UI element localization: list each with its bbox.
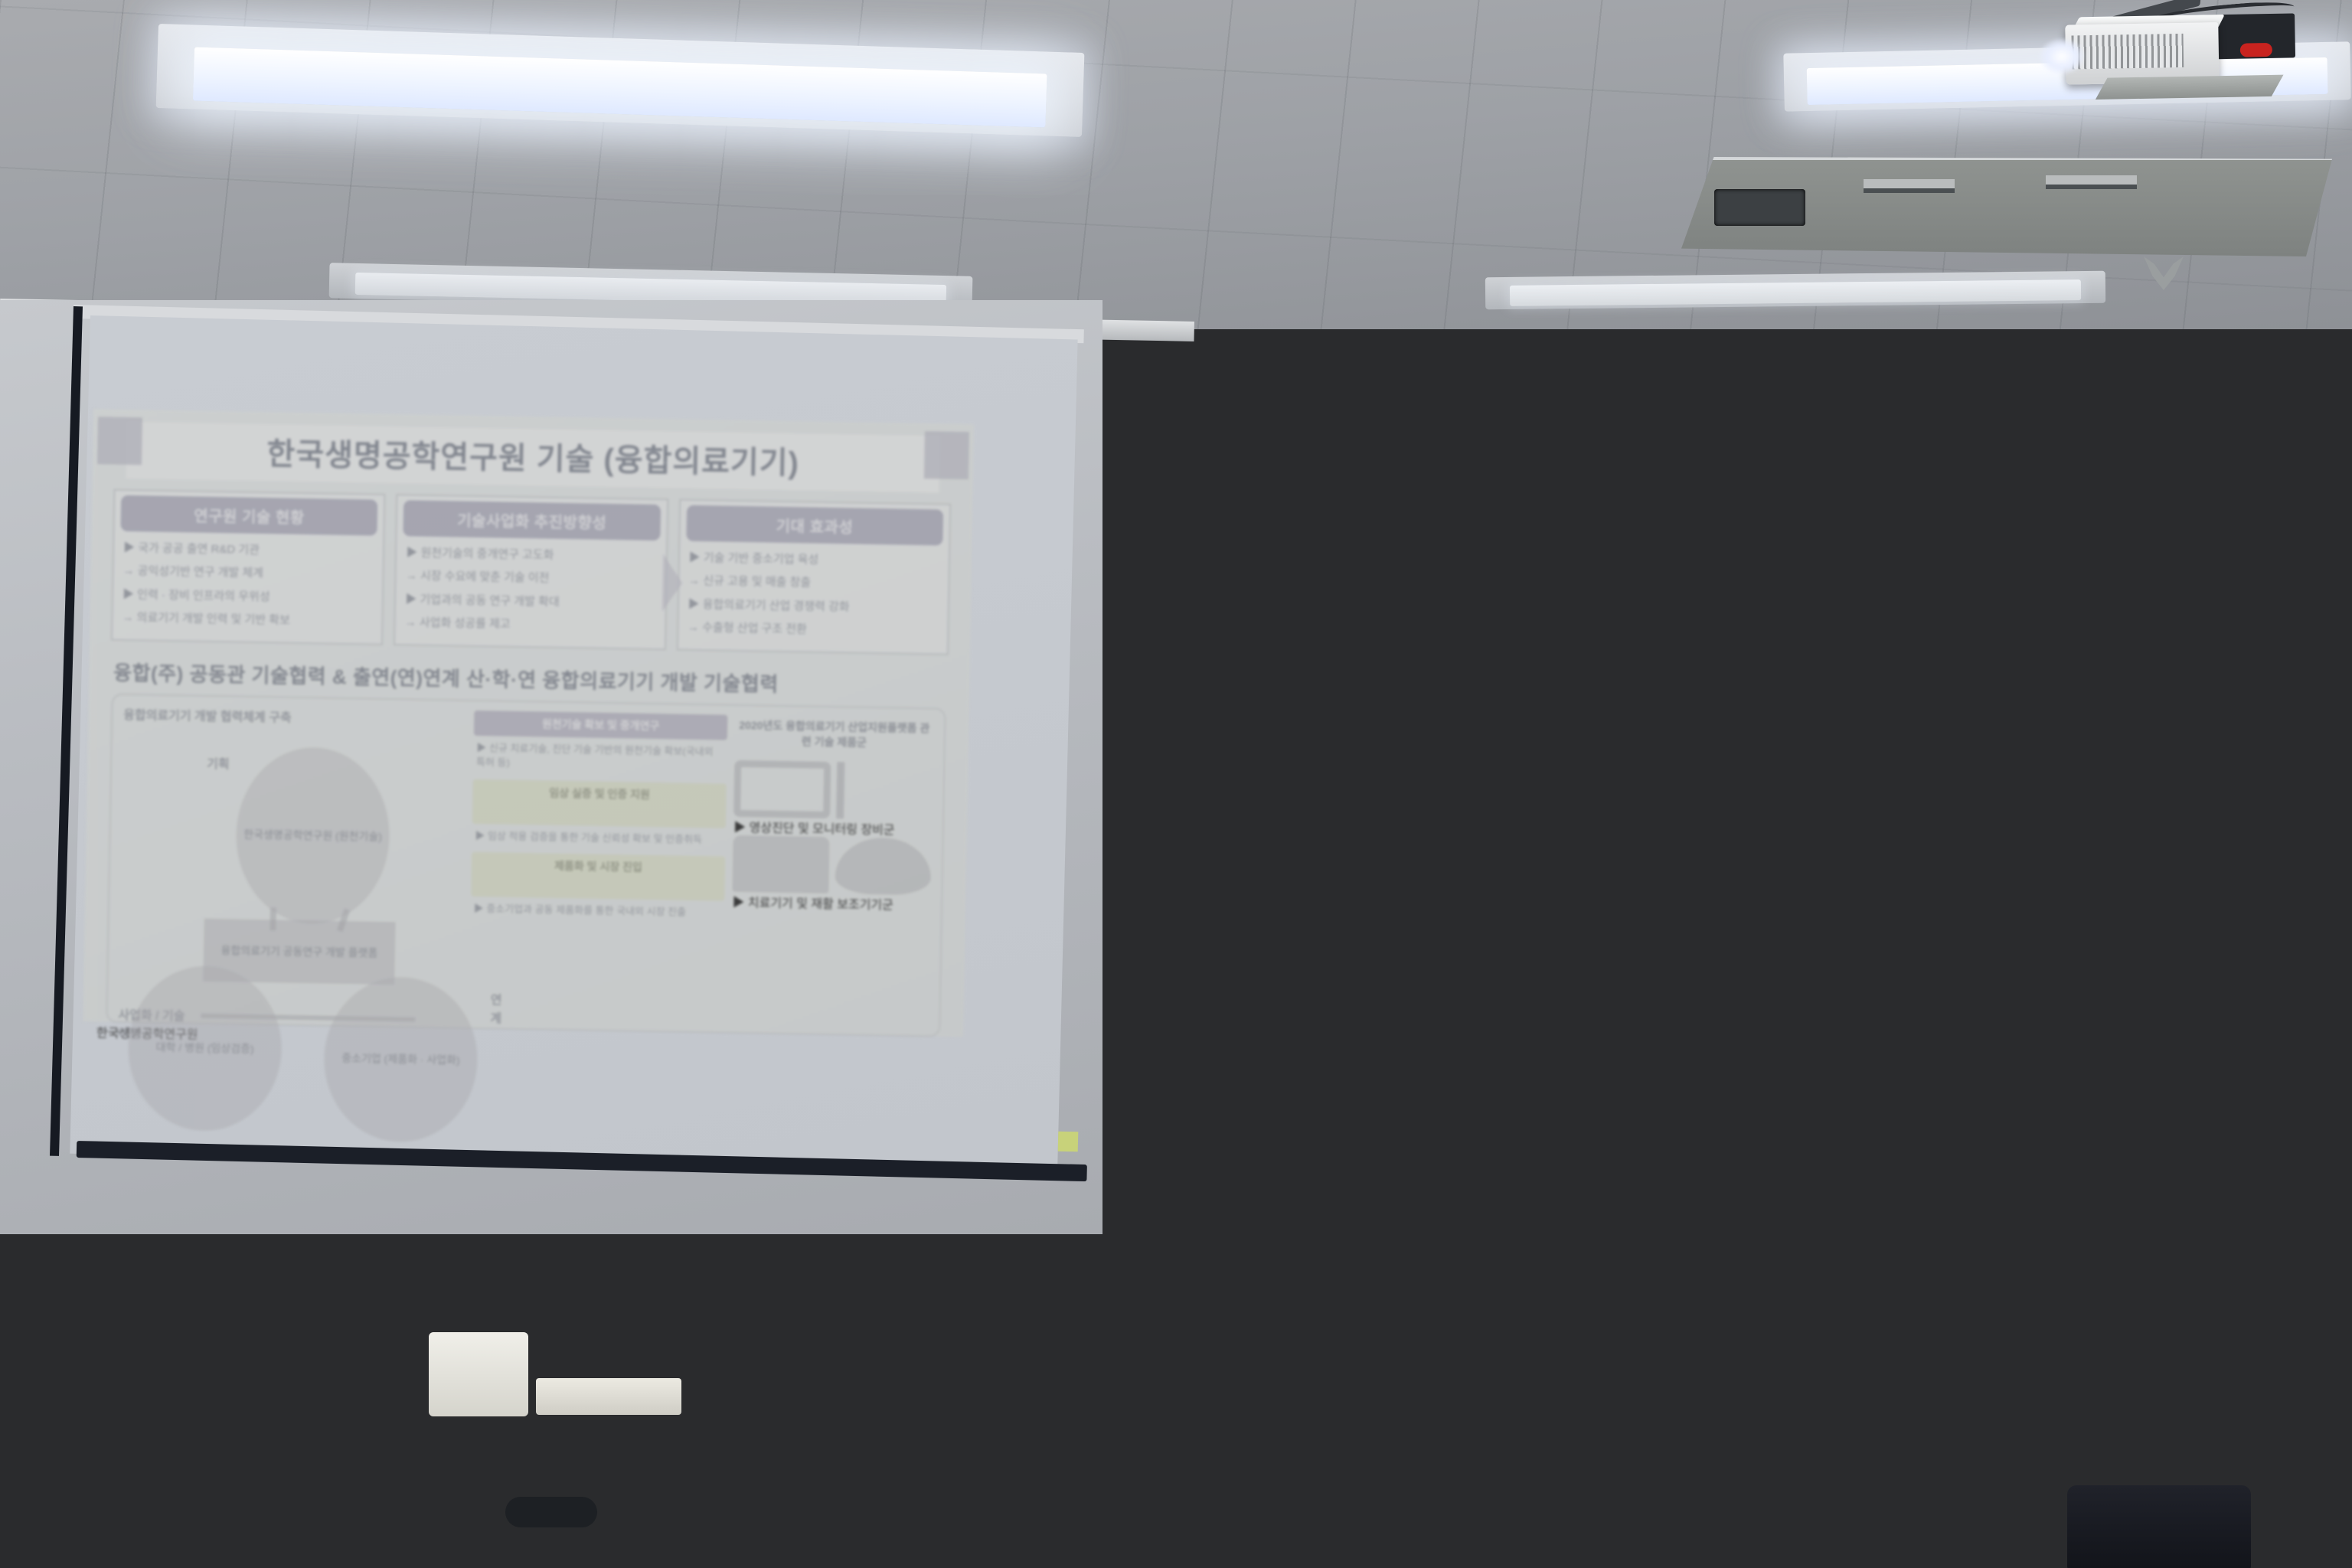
slide-device-photo-group: 2020년도 융합의료기기 산업지원플랫폼 관련 기술 제품군 ▶ 영상진단 및… bbox=[730, 715, 934, 1026]
slide-column-2: 기술사업화 추진방향성 ▶ 원천기술의 중개연구 고도화 → 시장 수요에 맞춘… bbox=[394, 494, 668, 650]
chair-back bbox=[0, 1447, 176, 1568]
hatch-vent bbox=[1714, 189, 1805, 226]
projection-screen: 한국생명공학연구원 기술 (융합의료기기) 연구원 기술 현황 ▶ 국가 공공 … bbox=[70, 315, 1077, 1178]
slide-title: 한국생명공학연구원 기술 (융합의료기기) bbox=[126, 422, 940, 493]
bullet: → 공익성기반 연구 개발 체계 bbox=[122, 562, 374, 584]
diagram-node-bottom-right: 중소기업 (제품화 · 사업화) bbox=[323, 976, 479, 1143]
lecture-hall-photo: 한국생명공학연구원 기술 (융합의료기기) 연구원 기술 현황 ▶ 국가 공공 … bbox=[0, 0, 2352, 1568]
mid-right-fluorescent-fixture bbox=[1485, 271, 2105, 309]
ceiling-access-hatch bbox=[1681, 157, 2332, 256]
slide-callout-1-note: ▶ 신규 치료기술, 진단 기술 기반의 원천기술 확보(국내외 특허 등) bbox=[473, 739, 727, 781]
slide-column-1-header: 연구원 기술 현황 bbox=[120, 495, 377, 536]
scanner-device-photo bbox=[733, 835, 830, 893]
slide-title-tab-right bbox=[924, 431, 969, 479]
tissue-box bbox=[429, 1332, 528, 1416]
slide-column-3-bullets: ▶ 기술 기반 중소기업 육성 → 신규 고용 및 매출 창출 ▶ 융합의료기기… bbox=[678, 549, 949, 641]
diagram-side-label-2: 연계 bbox=[490, 989, 502, 1026]
bullet: ▶ 국가 공공 출연 R&D 기관 bbox=[123, 539, 374, 561]
bullet: ▶ 원천기술의 중개연구 고도화 bbox=[406, 544, 657, 566]
slide-column-2-header: 기술사업화 추진방향성 bbox=[403, 500, 661, 541]
backpack bbox=[2067, 1485, 2251, 1568]
projector-base-plate bbox=[2096, 75, 2284, 100]
slide-callout-2-title: 임상 실증 및 인증 지원 bbox=[472, 779, 727, 828]
paper-sheet bbox=[536, 1378, 681, 1415]
slide-arrow-icon bbox=[661, 554, 682, 612]
slide-callout-3-title: 제품화 및 시장 진입 bbox=[471, 852, 726, 901]
bullet: → 사업화 성공률 제고 bbox=[405, 613, 656, 635]
hatch-bracket bbox=[1864, 179, 1955, 193]
slide-column-3-header: 기대 효과성 bbox=[686, 505, 943, 546]
slide-column-2-bullets: ▶ 원천기술의 중개연구 고도화 → 시장 수요에 맞춘 기술 이전 ▶ 기업과… bbox=[396, 544, 666, 635]
ultrasound-probe-device-photo bbox=[835, 837, 932, 895]
chair-armrest bbox=[505, 1497, 597, 1527]
slide-photo-group-header: 2020년도 융합의료기기 산업지원플랫폼 관련 기술 제품군 bbox=[735, 718, 933, 752]
slide-photo-grid-bottom bbox=[733, 835, 932, 896]
slide-column-1-bullets: ▶ 국가 공공 출연 R&D 기관 → 공익성기반 연구 개발 체계 ▶ 인력 … bbox=[113, 539, 383, 631]
monitor-device-photo bbox=[733, 760, 831, 818]
bullet: ▶ 기술 기반 중소기업 육성 bbox=[688, 549, 939, 571]
slide-subtitle: 융합(주) 공동관 기술협력 & 출연(연)연계 산·학·연 융합의료기기 개발… bbox=[113, 658, 945, 701]
slide-photo-caption-2: ▶ 치료기기 및 재활 보조기기군 bbox=[732, 892, 930, 914]
slide-title-tab-left bbox=[97, 416, 142, 465]
slide-diagram: 융합의료기기 개발 협력체계 구축 기획 사업화 / 기술이전 연계 한국생명공… bbox=[118, 704, 466, 1018]
fluorescent-tube bbox=[1510, 279, 2080, 306]
slide-callout-3-note: ▶ 중소기업과 공동 제품화를 통한 국내외 시장 진출 bbox=[470, 900, 724, 926]
diagram-title: 융합의료기기 개발 협력체계 구축 bbox=[123, 704, 292, 726]
slide-callout-1-title: 원천기술 확보 및 중개연구 bbox=[474, 710, 728, 740]
slide-callout-column: 원천기술 확보 및 중개연구 ▶ 신규 치료기술, 진단 기술 기반의 원천기술… bbox=[469, 710, 728, 1023]
bullet: → 의료기기 개발 인력 및 기반 확보 bbox=[122, 609, 373, 631]
slide-column-3: 기대 효과성 ▶ 기술 기반 중소기업 육성 → 신규 고용 및 매출 창출 ▶… bbox=[677, 499, 952, 655]
bullet: ▶ 인력 · 장비 인프라의 우위성 bbox=[122, 585, 374, 607]
ceiling-projector bbox=[2065, 8, 2296, 104]
slide-three-column-row: 연구원 기술 현황 ▶ 국가 공공 출연 R&D 기관 → 공익성기반 연구 개… bbox=[103, 488, 959, 655]
slide-callout-2-note: ▶ 임상 적용 검증을 통한 기술 신뢰성 확보 및 인증취득 bbox=[472, 827, 726, 854]
bullet: → 수출형 산업 구조 전환 bbox=[688, 618, 939, 640]
projected-slide: 한국생명공학연구원 기술 (융합의료기기) 연구원 기술 현황 ▶ 국가 공공 … bbox=[83, 409, 974, 1037]
projection-screen-pull-tab bbox=[1058, 1132, 1079, 1152]
hatch-bracket bbox=[2046, 175, 2137, 189]
diagram-side-label-1: 기획 bbox=[207, 753, 230, 773]
slide-column-1: 연구원 기술 현황 ▶ 국가 공공 출연 R&D 기관 → 공익성기반 연구 개… bbox=[111, 489, 386, 645]
projector-indicator-light bbox=[2240, 43, 2272, 57]
diagram-node-bottom-left: 대학 / 병원 (임상검증) bbox=[127, 965, 283, 1132]
projector-vent-grille bbox=[2071, 34, 2184, 70]
bullet: → 시장 수요에 맞춘 기술 이전 bbox=[406, 567, 657, 590]
slide-photo-grid-top bbox=[733, 760, 933, 821]
bullet: ▶ 융합의료기기 산업 경쟁력 강화 bbox=[688, 595, 939, 617]
bullet: → 신규 고용 및 매출 창출 bbox=[688, 572, 939, 594]
diagram-node-top: 한국생명공학연구원 (원천기술) bbox=[235, 746, 391, 925]
chair-back bbox=[0, 1271, 184, 1447]
slide-bottom-panel: 융합의료기기 개발 협력체계 구축 기획 사업화 / 기술이전 연계 한국생명공… bbox=[106, 694, 946, 1037]
robotic-arm-device-photo bbox=[836, 762, 933, 820]
projector-body bbox=[2065, 22, 2219, 84]
bullet: ▶ 기업과의 공동 연구 개발 확대 bbox=[405, 590, 656, 612]
